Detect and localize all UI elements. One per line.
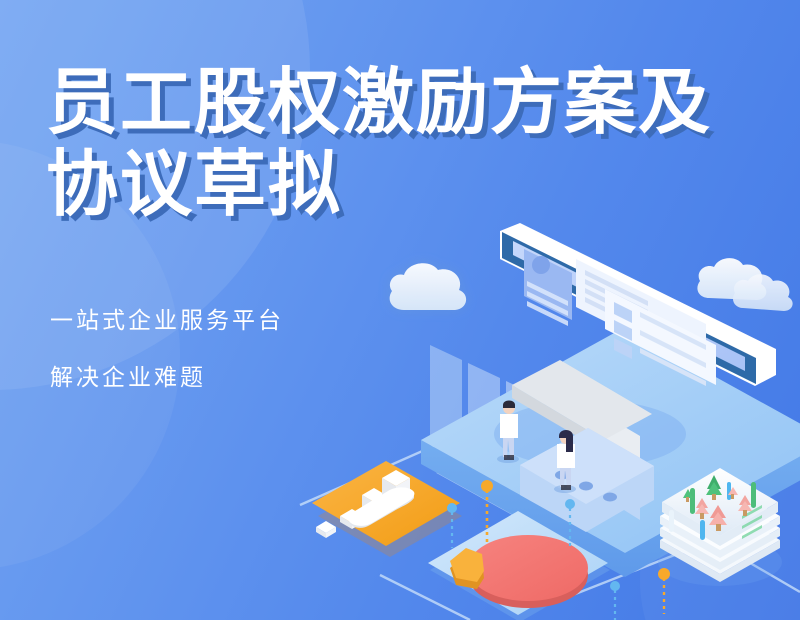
person-right <box>554 430 576 493</box>
screen-sidebar <box>524 249 572 326</box>
platform-side <box>421 440 800 577</box>
background-arc-bottom-right <box>640 430 800 620</box>
bar-chart-card <box>312 461 462 557</box>
bar-4 <box>316 521 336 538</box>
connector-lines <box>300 430 800 620</box>
main-platform <box>421 327 800 577</box>
promo-banner: 员工股权激励方案及 协议草拟 一站式企业服务平台 解决企业难题 <box>0 0 800 620</box>
person-left <box>497 401 519 464</box>
bar-3 <box>382 470 410 509</box>
marker-pin-orange-2 <box>658 568 670 614</box>
pie-chart <box>450 535 588 608</box>
cloud-right <box>697 258 792 311</box>
monitor-screen <box>512 241 746 386</box>
trees <box>683 475 752 531</box>
stack-light-bars <box>669 482 756 540</box>
cloud-left <box>390 263 466 310</box>
stack-indicators <box>742 505 762 539</box>
bar-1 <box>340 509 364 529</box>
marker-pin-orange-1 <box>481 480 493 545</box>
marker-pin-blue-1 <box>565 499 575 548</box>
page-title: 员工股权激励方案及 协议草拟 <box>46 62 776 226</box>
title-line-1: 员工股权激励方案及 <box>46 62 776 144</box>
chat-bubble <box>520 428 654 532</box>
screen-document <box>576 259 716 386</box>
title-line-2: 协议草拟 <box>46 144 776 226</box>
desktop-monitor <box>494 223 776 468</box>
platform-top <box>421 327 800 553</box>
platform-back-panels <box>430 345 538 488</box>
bar-card-pill <box>349 487 414 528</box>
bar-2 <box>362 488 386 519</box>
page-subtitle: 一站式企业服务平台 解决企业难题 <box>50 305 284 419</box>
data-stack <box>658 468 782 586</box>
marker-pin-blue-2 <box>447 503 457 548</box>
marker-pin-blue-3 <box>610 581 620 620</box>
subtitle-line-1: 一站式企业服务平台 <box>50 305 284 335</box>
pie-chart-card <box>428 511 610 620</box>
subtitle-line-2: 解决企业难题 <box>50 362 284 392</box>
marker-dots <box>447 480 670 620</box>
